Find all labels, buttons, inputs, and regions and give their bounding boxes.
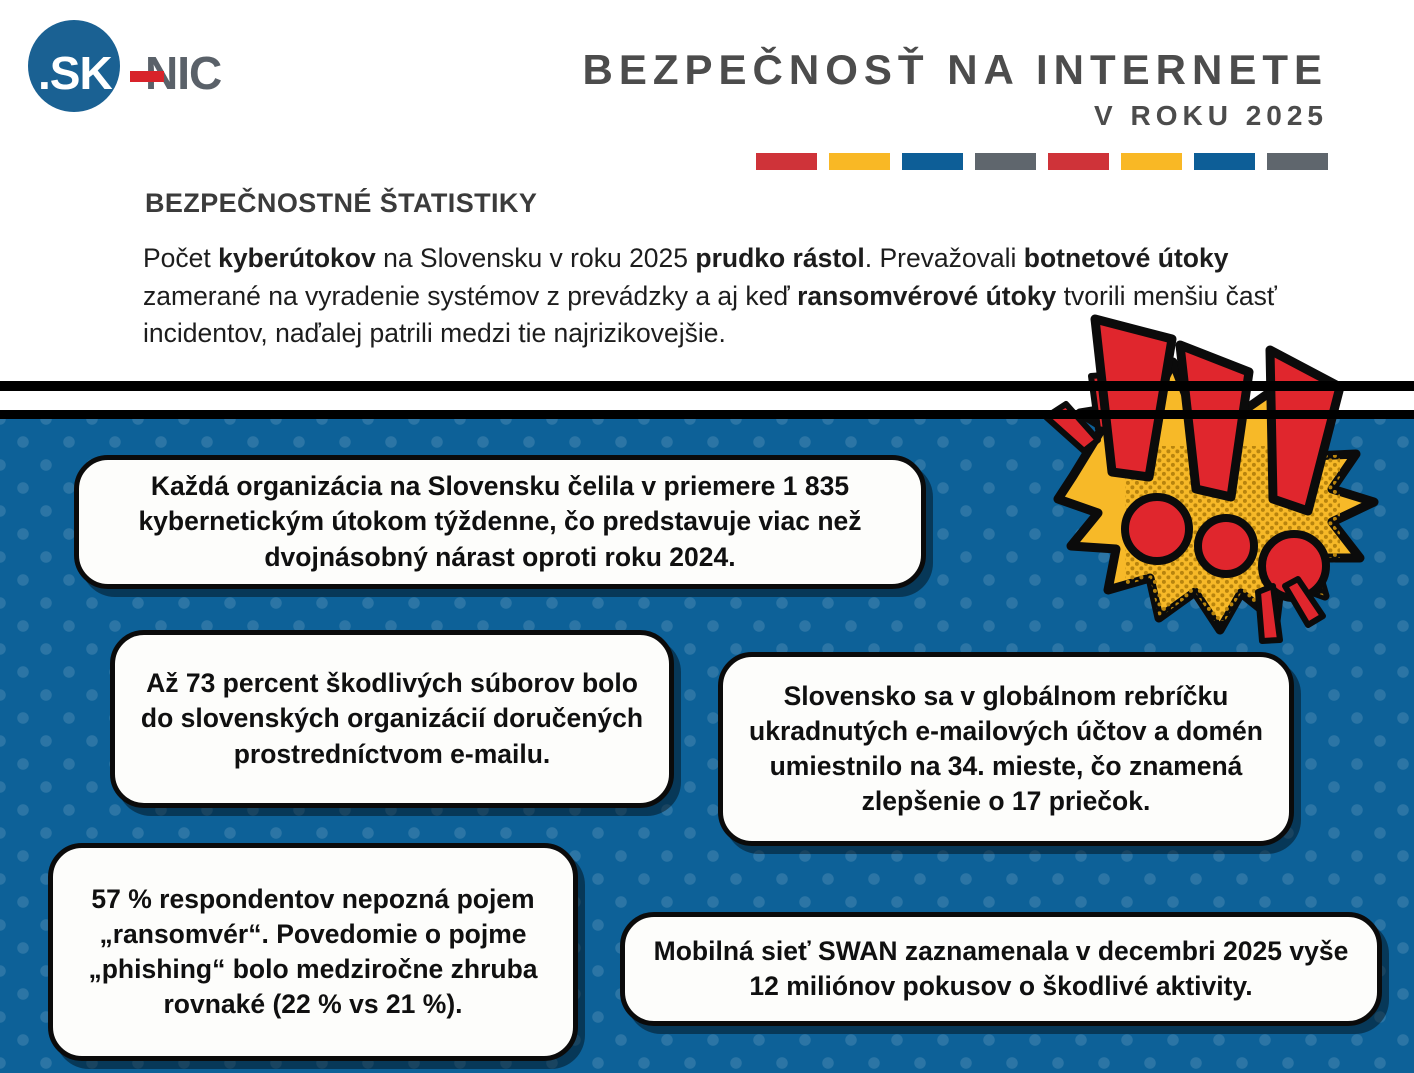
intro-run-2: kyberútokov — [218, 243, 376, 273]
color-bar-swatch-7 — [1194, 153, 1255, 170]
intro-run-6: botnetové útoky — [1024, 243, 1229, 273]
brand-color-bar — [756, 153, 1328, 170]
stat-bubble: Každá organizácia na Slovensku čelila v … — [74, 455, 926, 589]
color-bar-swatch-1 — [756, 153, 817, 170]
intro-run-3: na Slovensku v roku 2025 — [376, 243, 696, 273]
color-bar-swatch-6 — [1121, 153, 1182, 170]
stat-bubble: Až 73 percent škodlivých súborov bolo do… — [110, 630, 674, 808]
stat-bubble-text: Až 73 percent škodlivých súborov bolo do… — [131, 666, 653, 772]
stat-bubble-text: Slovensko sa v globálnom rebríčku ukradn… — [739, 679, 1273, 820]
divider-rule-top — [0, 381, 1414, 391]
infographic-page: .SK NIC BEZPEČNOSŤ NA INTERNETE V ROKU 2… — [0, 0, 1414, 1073]
comic-explosion-icon — [1040, 296, 1414, 646]
color-bar-swatch-4 — [975, 153, 1036, 170]
color-bar-swatch-2 — [829, 153, 890, 170]
color-bar-swatch-3 — [902, 153, 963, 170]
divider-rule-bottom — [0, 410, 1414, 419]
intro-run-7: zamerané na vyradenie systémov z prevádz… — [143, 281, 797, 311]
color-bar-swatch-5 — [1048, 153, 1109, 170]
stat-bubble: 57 % respondentov nepozná pojem „ransomv… — [48, 843, 578, 1061]
section-title: BEZPEČNOSTNÉ ŠTATISTIKY — [145, 188, 537, 219]
logo-red-dash — [130, 71, 164, 82]
stat-bubble: Slovensko sa v globálnom rebríčku ukradn… — [718, 652, 1294, 846]
intro-run-8: ransomvérové útoky — [797, 281, 1056, 311]
stat-bubble-text: Mobilná sieť SWAN zaznamenala v decembri… — [641, 934, 1361, 1004]
title-block: BEZPEČNOSŤ NA INTERNETE V ROKU 2025 — [583, 48, 1328, 132]
burst-dot-1 — [1125, 497, 1189, 561]
stat-bubble-text: Každá organizácia na Slovensku čelila v … — [97, 469, 903, 575]
intro-run-5: . Prevažovali — [865, 243, 1024, 273]
burst-dot-2 — [1198, 518, 1254, 574]
sk-nic-logo: .SK NIC — [20, 14, 270, 119]
page-subtitle: V ROKU 2025 — [583, 100, 1328, 132]
page-title: BEZPEČNOSŤ NA INTERNETE — [583, 48, 1328, 92]
intro-run-4: prudko rástol — [695, 243, 864, 273]
logo-sk-text: .SK — [38, 50, 112, 96]
stat-bubble-text: 57 % respondentov nepozná pojem „ransomv… — [67, 882, 559, 1023]
exclamation-mark-2 — [1180, 345, 1249, 497]
speed-wedge-3 — [1258, 586, 1280, 641]
intro-run-1: Počet — [143, 243, 218, 273]
color-bar-swatch-8 — [1267, 153, 1328, 170]
stat-bubble: Mobilná sieť SWAN zaznamenala v decembri… — [620, 912, 1382, 1026]
